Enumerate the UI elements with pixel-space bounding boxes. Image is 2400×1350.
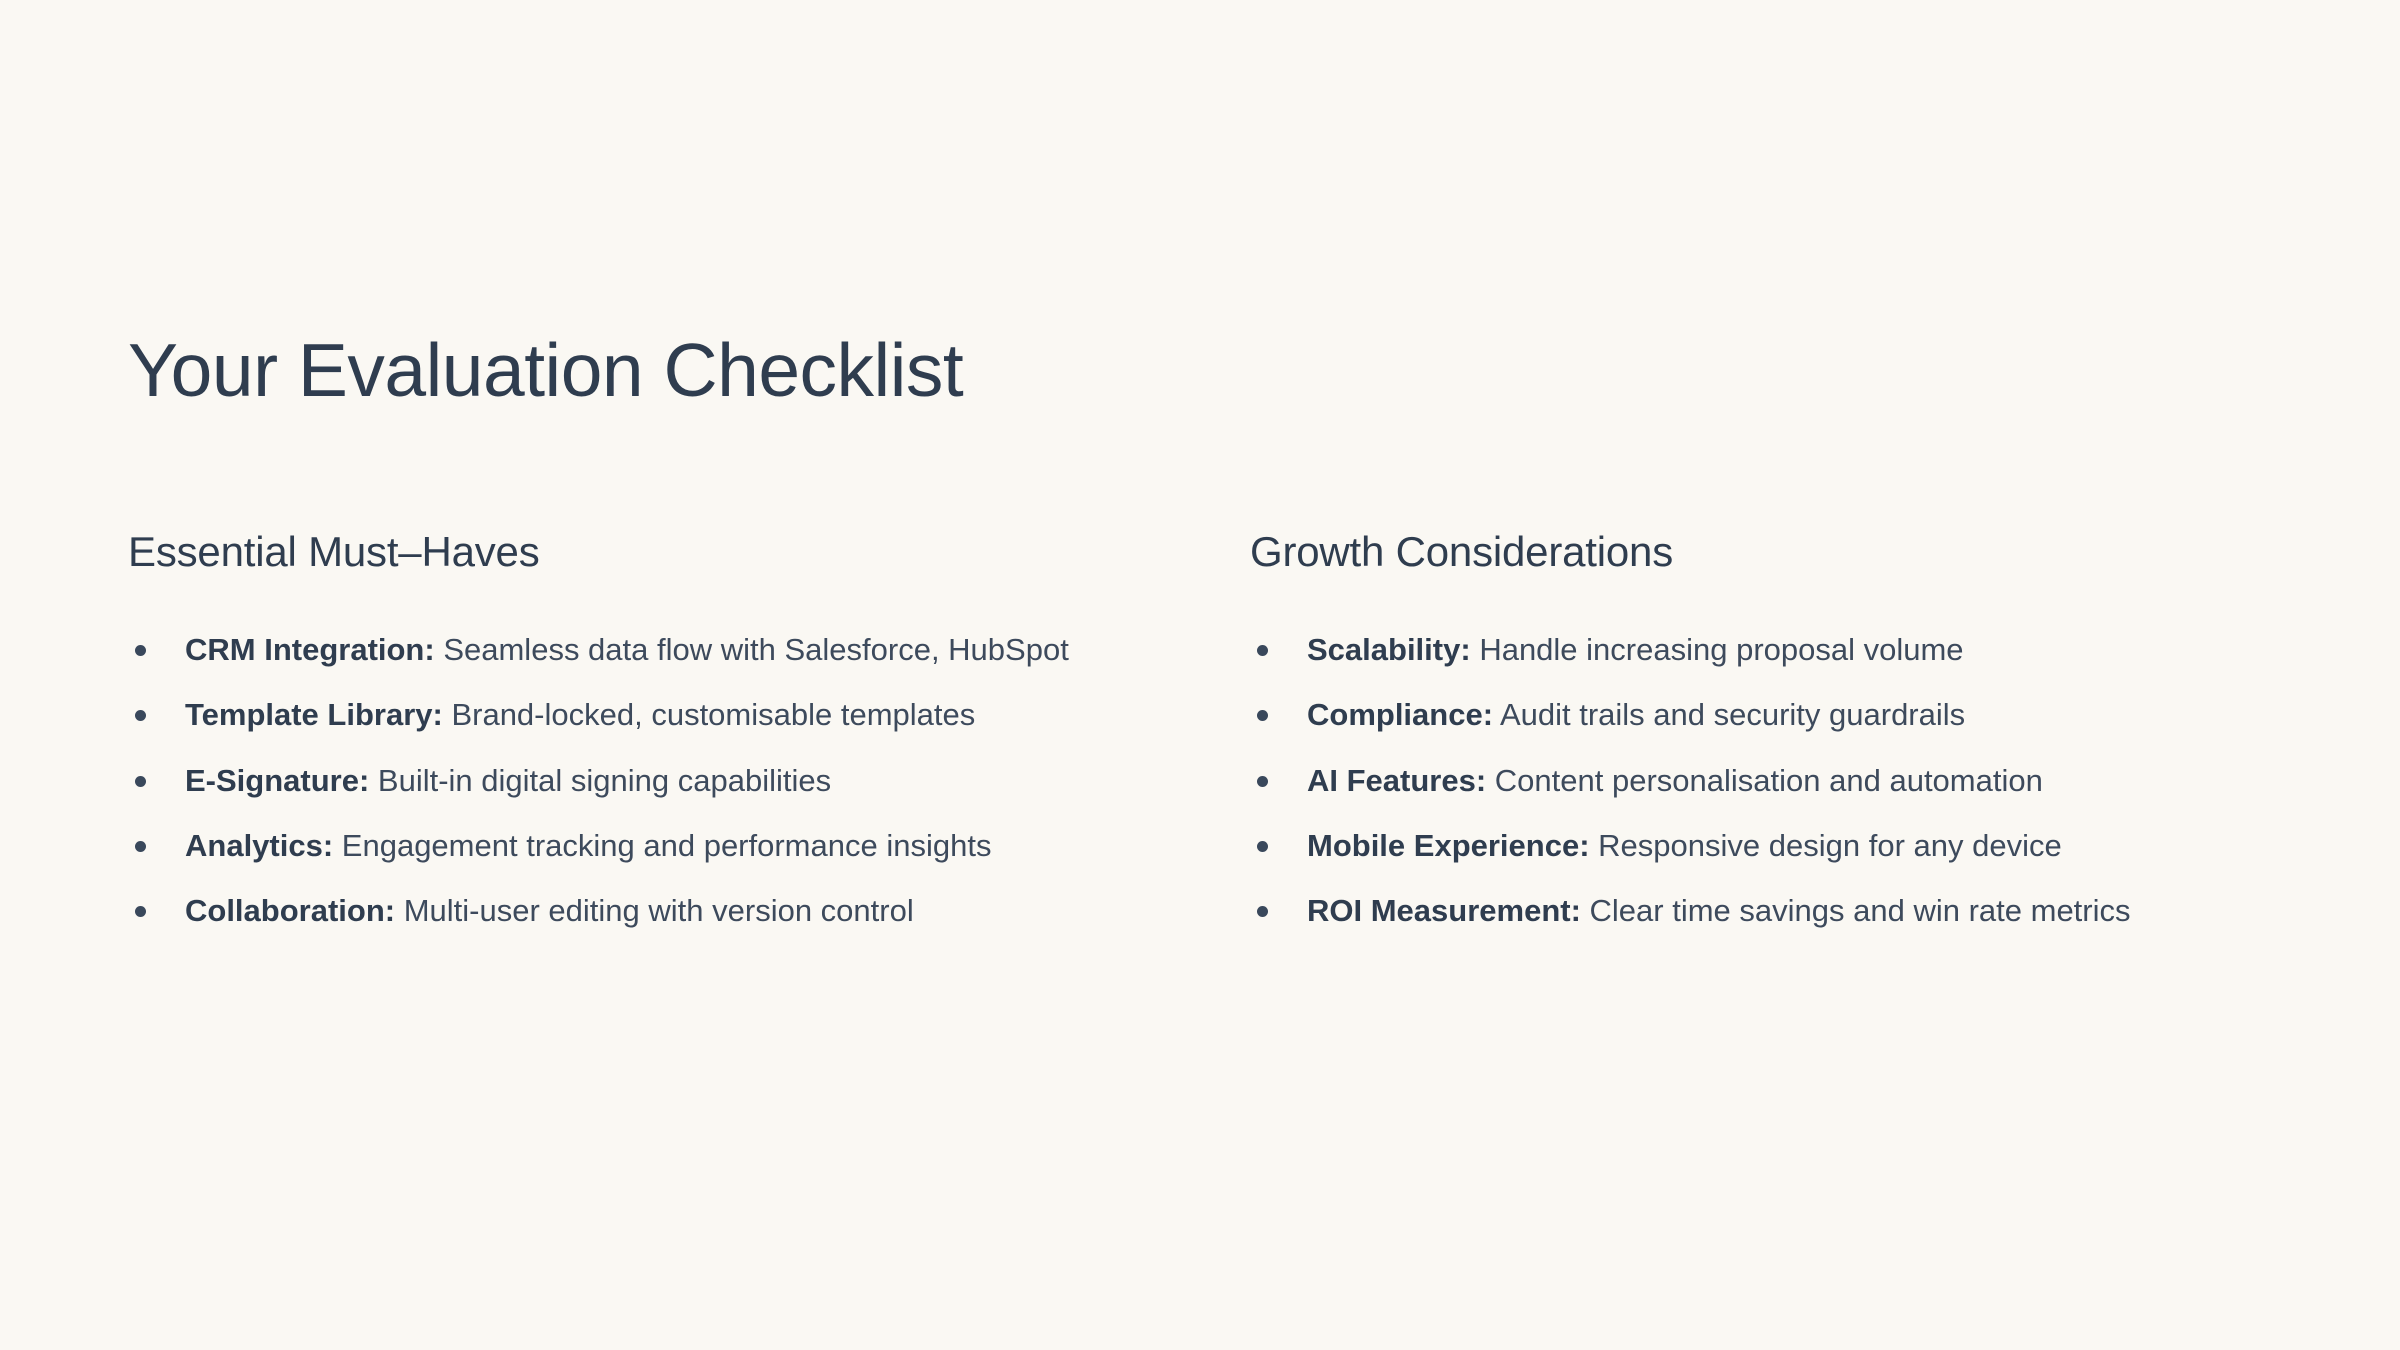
list-item-desc: Responsive design for any device: [1598, 828, 2062, 863]
checklist-growth: Scalability: Handle increasing proposal …: [1250, 627, 2310, 933]
list-item: Analytics: Engagement tracking and perfo…: [128, 823, 1188, 868]
bullet-dot-icon: [135, 841, 146, 852]
list-item-term: Mobile Experience:: [1307, 828, 1590, 863]
bullet-dot-icon: [1257, 906, 1268, 917]
list-item-term: Scalability:: [1307, 632, 1471, 667]
list-item: Compliance: Audit trails and security gu…: [1250, 692, 2310, 737]
list-item-desc: Seamless data flow with Salesforce, HubS…: [443, 632, 1068, 667]
bullet-dot-icon: [1257, 710, 1268, 721]
list-item: Mobile Experience: Responsive design for…: [1250, 823, 2310, 868]
list-item: CRM Integration: Seamless data flow with…: [128, 627, 1188, 672]
list-item-term: ROI Measurement:: [1307, 893, 1581, 928]
bullet-dot-icon: [1257, 776, 1268, 787]
list-item-term: Compliance:: [1307, 697, 1493, 732]
bullet-dot-icon: [135, 906, 146, 917]
list-item: AI Features: Content personalisation and…: [1250, 758, 2310, 803]
list-item: Template Library: Brand-locked, customis…: [128, 692, 1188, 737]
list-item-term: E-Signature:: [185, 763, 369, 798]
bullet-dot-icon: [135, 710, 146, 721]
checklist-essential: CRM Integration: Seamless data flow with…: [128, 627, 1188, 933]
list-item-term: Collaboration:: [185, 893, 395, 928]
list-item: Collaboration: Multi-user editing with v…: [128, 888, 1188, 933]
list-item-desc: Handle increasing proposal volume: [1479, 632, 1963, 667]
list-item-desc: Multi-user editing with version control: [404, 893, 914, 928]
slide-canvas: Your Evaluation Checklist Essential Must…: [0, 0, 2400, 1350]
list-item-desc: Engagement tracking and performance insi…: [342, 828, 992, 863]
bullet-dot-icon: [135, 645, 146, 656]
list-item: E-Signature: Built-in digital signing ca…: [128, 758, 1188, 803]
checklist-columns: Essential Must–Haves CRM Integration: Se…: [128, 529, 2272, 933]
bullet-dot-icon: [1257, 645, 1268, 656]
list-item: Scalability: Handle increasing proposal …: [1250, 627, 2310, 672]
list-item: ROI Measurement: Clear time savings and …: [1250, 888, 2310, 933]
list-item-term: AI Features:: [1307, 763, 1486, 798]
list-item-desc: Content personalisation and automation: [1495, 763, 2043, 798]
column-heading-essential: Essential Must–Haves: [128, 529, 1188, 575]
list-item-desc: Audit trails and security guardrails: [1500, 697, 1965, 732]
list-item-desc: Built-in digital signing capabilities: [378, 763, 831, 798]
page-title: Your Evaluation Checklist: [128, 330, 2272, 411]
list-item-term: Template Library:: [185, 697, 443, 732]
bullet-dot-icon: [135, 776, 146, 787]
bullet-dot-icon: [1257, 841, 1268, 852]
column-essential-must-haves: Essential Must–Haves CRM Integration: Se…: [128, 529, 1188, 933]
list-item-term: Analytics:: [185, 828, 333, 863]
list-item-desc: Clear time savings and win rate metrics: [1590, 893, 2131, 928]
list-item-term: CRM Integration:: [185, 632, 435, 667]
column-heading-growth: Growth Considerations: [1250, 529, 2310, 575]
list-item-desc: Brand-locked, customisable templates: [451, 697, 975, 732]
column-growth-considerations: Growth Considerations Scalability: Handl…: [1250, 529, 2310, 933]
